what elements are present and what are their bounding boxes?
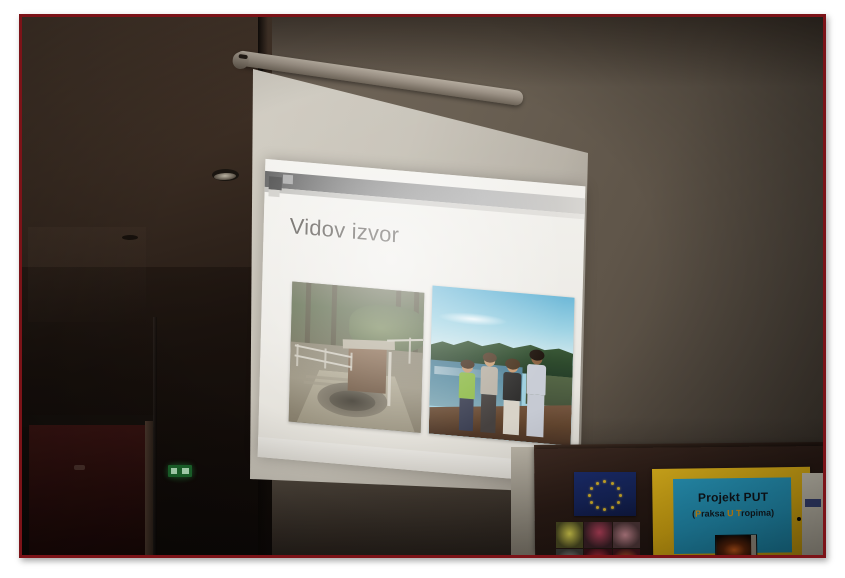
collage-cell	[584, 522, 611, 548]
emergency-exit-sign-icon	[168, 465, 192, 477]
door-frame-edge	[145, 421, 153, 555]
collage-cell	[613, 522, 640, 548]
collage-cell	[584, 549, 611, 556]
wall-seam	[153, 317, 157, 555]
wall-mark	[122, 235, 138, 240]
slide-band-square-light	[283, 174, 293, 184]
collage-cell	[556, 549, 583, 556]
poster-subtitle-text: raksa	[701, 508, 727, 518]
collage-cell	[613, 549, 640, 556]
doorway	[29, 425, 149, 555]
photo-matte: Vidov izvor	[0, 0, 845, 578]
photo2-person	[499, 360, 525, 436]
photo2-person-top	[480, 366, 498, 395]
flower-collage	[556, 522, 640, 555]
photo2-person-top	[459, 372, 476, 399]
photo2-person-legs	[480, 394, 496, 433]
photo2-person	[455, 360, 479, 432]
photo1-brick-wall	[348, 344, 387, 393]
door-handle	[74, 465, 85, 470]
wall-panel-left	[28, 227, 146, 322]
paper-sheet-block	[805, 499, 821, 507]
room-photograph: Vidov izvor	[22, 17, 823, 555]
board-screw	[797, 517, 801, 521]
photo2-person-top	[526, 364, 546, 396]
slide-band-square-pale	[268, 189, 279, 197]
collage-cell	[556, 522, 583, 548]
slide-photo-stone-spring	[289, 281, 425, 432]
poster-subtitle-text: ropima)	[741, 508, 774, 518]
photo2-person	[477, 354, 501, 434]
poster-subtitle-highlight: U	[727, 508, 734, 518]
projected-slide: Vidov izvor	[235, 135, 596, 495]
photo2-person-legs	[459, 398, 474, 431]
photo2-person-top	[503, 372, 522, 402]
poster-photo-edge	[751, 535, 756, 555]
photo2-person	[523, 352, 549, 438]
poster-title: Projekt PUT	[677, 489, 789, 505]
slide-band-square-dark	[269, 176, 282, 190]
poster-subtitle: (Praksa U Tropima)	[677, 507, 789, 519]
board-left-panel	[511, 447, 537, 555]
photo-frame: Vidov izvor	[19, 14, 826, 558]
eu-flag	[574, 472, 636, 516]
photo2-person-legs	[503, 400, 520, 435]
paper-sheet	[802, 473, 823, 555]
slide-photo-group-lake	[429, 286, 575, 446]
photo2-person-legs	[526, 394, 544, 437]
